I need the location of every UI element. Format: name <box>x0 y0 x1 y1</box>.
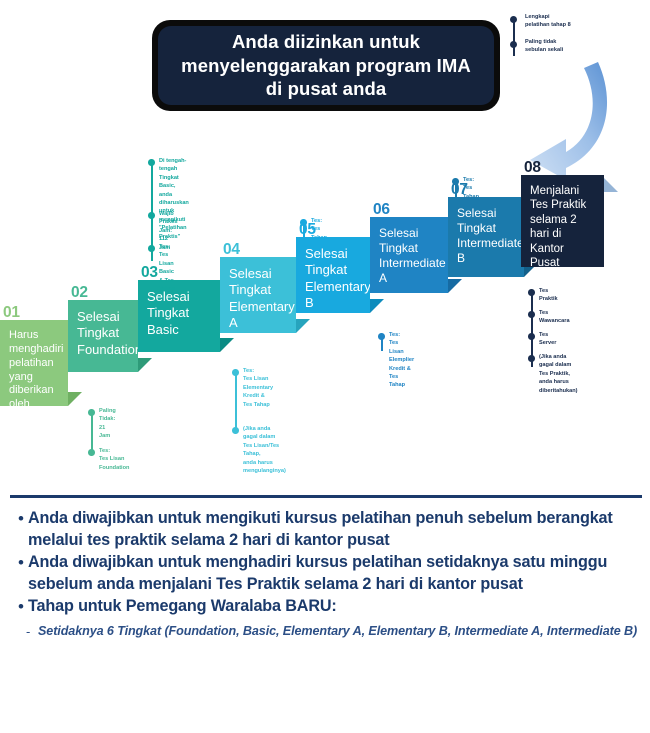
stage-fold-05 <box>370 299 384 313</box>
annotation-text: Tes: Tes Lisan Elementary Kredit & Tes T… <box>243 367 273 409</box>
stage-fold-04 <box>296 319 310 333</box>
annotation-text: Tes: Tes Tahap <box>311 217 327 242</box>
annotation-dot <box>148 212 155 219</box>
annotation-text: Tes: Tes Lisan Foundation <box>99 447 129 472</box>
bullet-mark: • <box>14 596 28 618</box>
list-item: • Anda diwajibkan untuk mengikuti kursus… <box>14 508 642 551</box>
permission-banner-text: Anda diizinkan untuk menyelenggarakan pr… <box>181 30 471 101</box>
stage-step-05[interactable]: 05 Selesai Tingkat Elementary B <box>296 237 370 313</box>
annotation-text: Tes: Tes Lisan Basic & Tes Tahap <box>159 243 175 293</box>
stage-label-02: Selesai Tingkat Foundation <box>68 300 138 372</box>
sub-bullet-text: Setidaknya 6 Tingkat (Foundation, Basic,… <box>38 623 637 641</box>
stage-label-06: Selesai Tingkat Intermediate A <box>370 217 448 293</box>
stage-step-04[interactable]: 04 Selesai Tingkat Elementary A <box>220 257 296 333</box>
bullet-text: Tahap untuk Pemegang Waralaba BARU: <box>28 596 337 618</box>
stage-label-07: Selesai Tingkat Intermediate B <box>448 197 524 277</box>
annotation-dot <box>88 409 95 416</box>
bullet-mark: • <box>14 552 28 595</box>
bullet-text: Anda diwajibkan untuk menghadiri kursus … <box>28 552 642 595</box>
stage-fold-02 <box>138 358 152 372</box>
stage-step-07[interactable]: 07 Selesai Tingkat Intermediate B <box>448 197 524 277</box>
callout-connector <box>513 18 515 56</box>
annotation-dot <box>300 219 307 226</box>
stage-step-06[interactable]: 06 Selesai Tingkat Intermediate A <box>370 217 448 293</box>
requirements-list: • Anda diwajibkan untuk mengikuti kursus… <box>14 508 642 640</box>
annotation-stem <box>91 411 93 453</box>
callout-dot <box>510 41 517 48</box>
stage-step-03[interactable]: 03 Selesai Tingkat Basic <box>138 280 220 352</box>
stage-label-01: Harus menghadiri pelatihan yang diberika… <box>0 320 68 406</box>
stage-step-02[interactable]: 02 Selesai Tingkat Foundation <box>68 300 138 372</box>
annotation-dot <box>148 245 155 252</box>
permission-banner-inner: Anda diizinkan untuk menyelenggarakan pr… <box>158 26 494 105</box>
annotation-dot <box>528 311 535 318</box>
permission-banner: Anda diizinkan untuk menyelenggarakan pr… <box>152 20 500 111</box>
stage-fold-08 <box>604 178 618 192</box>
callout-text-2: Paling tidak sebulan sekali <box>525 38 563 54</box>
callout-text-1: Lengkapi pelatihan tahap 8 <box>525 13 571 29</box>
annotation-text: Tes Praktik <box>539 287 558 304</box>
annotation-text: (Jika anda gagal dalam Tes Lisan/Tes Tah… <box>243 425 286 475</box>
stage-label-04: Selesai Tingkat Elementary A <box>220 257 296 333</box>
list-item: • Anda diwajibkan untuk menghadiri kursu… <box>14 552 642 595</box>
annotation-text: Tes Wawancara <box>539 309 570 326</box>
list-item: • Tahap untuk Pemegang Waralaba BARU: <box>14 596 642 618</box>
annotation-dot <box>232 369 239 376</box>
stage-label-05: Selesai Tingkat Elementary B <box>296 237 370 313</box>
annotation-text: Tes: Tes Tahap <box>463 176 479 201</box>
top-callouts: Lengkapi pelatihan tahap 8 Paling tidak … <box>508 8 648 66</box>
bullet-mark: • <box>14 508 28 551</box>
stage-fold-06 <box>448 279 462 293</box>
stage-fold-01 <box>68 392 82 406</box>
stage-fold-03 <box>220 338 234 352</box>
annotation-dot <box>452 178 459 185</box>
annotation-dot <box>528 289 535 296</box>
sub-list-item: - Setidaknya 6 Tingkat (Foundation, Basi… <box>14 623 642 641</box>
stage-step-08[interactable]: 08 Menjalani Tes Praktik selama 2 hari d… <box>521 175 604 267</box>
annotation-dot <box>528 333 535 340</box>
section-divider <box>10 495 642 498</box>
annotation-dot <box>378 333 385 340</box>
annotation-text: (Jika anda gagal dalam Tes Praktik, anda… <box>539 353 578 395</box>
sub-bullet-mark: - <box>26 623 38 641</box>
training-stages-diagram: 01 Harus menghadiri pelatihan yang diber… <box>0 140 650 480</box>
annotation-stem <box>235 371 237 433</box>
callout-dot <box>510 16 517 23</box>
stage-label-03: Selesai Tingkat Basic <box>138 280 220 352</box>
stage-step-01[interactable]: 01 Harus menghadiri pelatihan yang diber… <box>0 320 68 406</box>
annotation-text: Tes: Tes Lisan Elemplier Kredit & Tes Ta… <box>389 331 414 390</box>
annotation-dot <box>148 159 155 166</box>
annotation-dot <box>88 449 95 456</box>
bullet-text: Anda diwajibkan untuk mengikuti kursus p… <box>28 508 642 551</box>
annotation-text: Paling Tidak: 21 Jam <box>99 407 116 441</box>
annotation-dot <box>528 355 535 362</box>
annotation-text: Tes Server <box>539 331 556 348</box>
annotation-dot <box>232 427 239 434</box>
stage-label-08: Menjalani Tes Praktik selama 2 hari di K… <box>521 175 604 267</box>
